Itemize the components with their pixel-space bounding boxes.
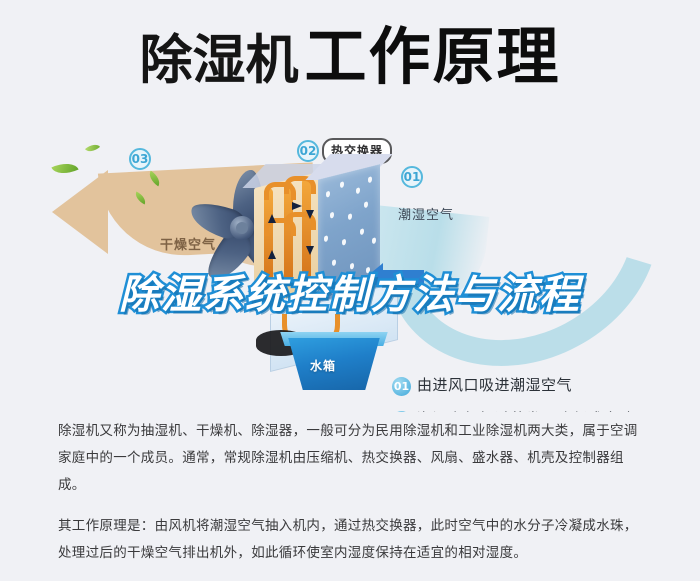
illustration-badge-03: 03: [129, 148, 151, 170]
paragraph-1: 除湿机又称为抽湿机、干燥机、除湿器，一般可分为民用除湿机和工业除湿机两大类，属于…: [58, 418, 648, 499]
illustration-stage: 干燥空气 03 02 01 热交换器: [0, 122, 700, 412]
steps-list: 01 由进风口吸进潮湿空气 02 潮湿空气经过蒸发器冷凝成水珠 03 从上部出风…: [392, 376, 692, 412]
page-title-prefix: 除湿机: [139, 30, 298, 91]
water-tank-label: 水箱: [310, 357, 336, 374]
air-intake-arrow-icon: [382, 270, 424, 285]
page-title: 除湿机工作原理: [0, 26, 700, 88]
step-badge: 01: [392, 377, 411, 396]
step-badge: 02: [392, 411, 411, 412]
step-text: 潮湿空气经过蒸发器冷凝成水珠: [417, 410, 634, 412]
paragraph-2: 其工作原理是：由风机将潮湿空气抽入机内，通过热交换器，此时空气中的水分子冷凝成水…: [58, 513, 648, 567]
list-item: 02 潮湿空气经过蒸发器冷凝成水珠: [392, 410, 692, 412]
page-title-main: 工作原理: [304, 20, 560, 93]
step-text: 由进风口吸进潮湿空气: [417, 376, 572, 394]
dehumidifier-machine-icon: 水箱: [248, 152, 428, 382]
body-copy: 除湿机又称为抽湿机、干燥机、除湿器，一般可分为民用除湿机和工业除湿机两大类，属于…: [58, 418, 648, 581]
poster-root: 除湿机工作原理 干燥空气 03 02 01 热交换器: [0, 0, 700, 566]
list-item: 01 由进风口吸进潮湿空气: [392, 376, 692, 396]
humid-air-label: 潮湿空气: [398, 204, 454, 223]
